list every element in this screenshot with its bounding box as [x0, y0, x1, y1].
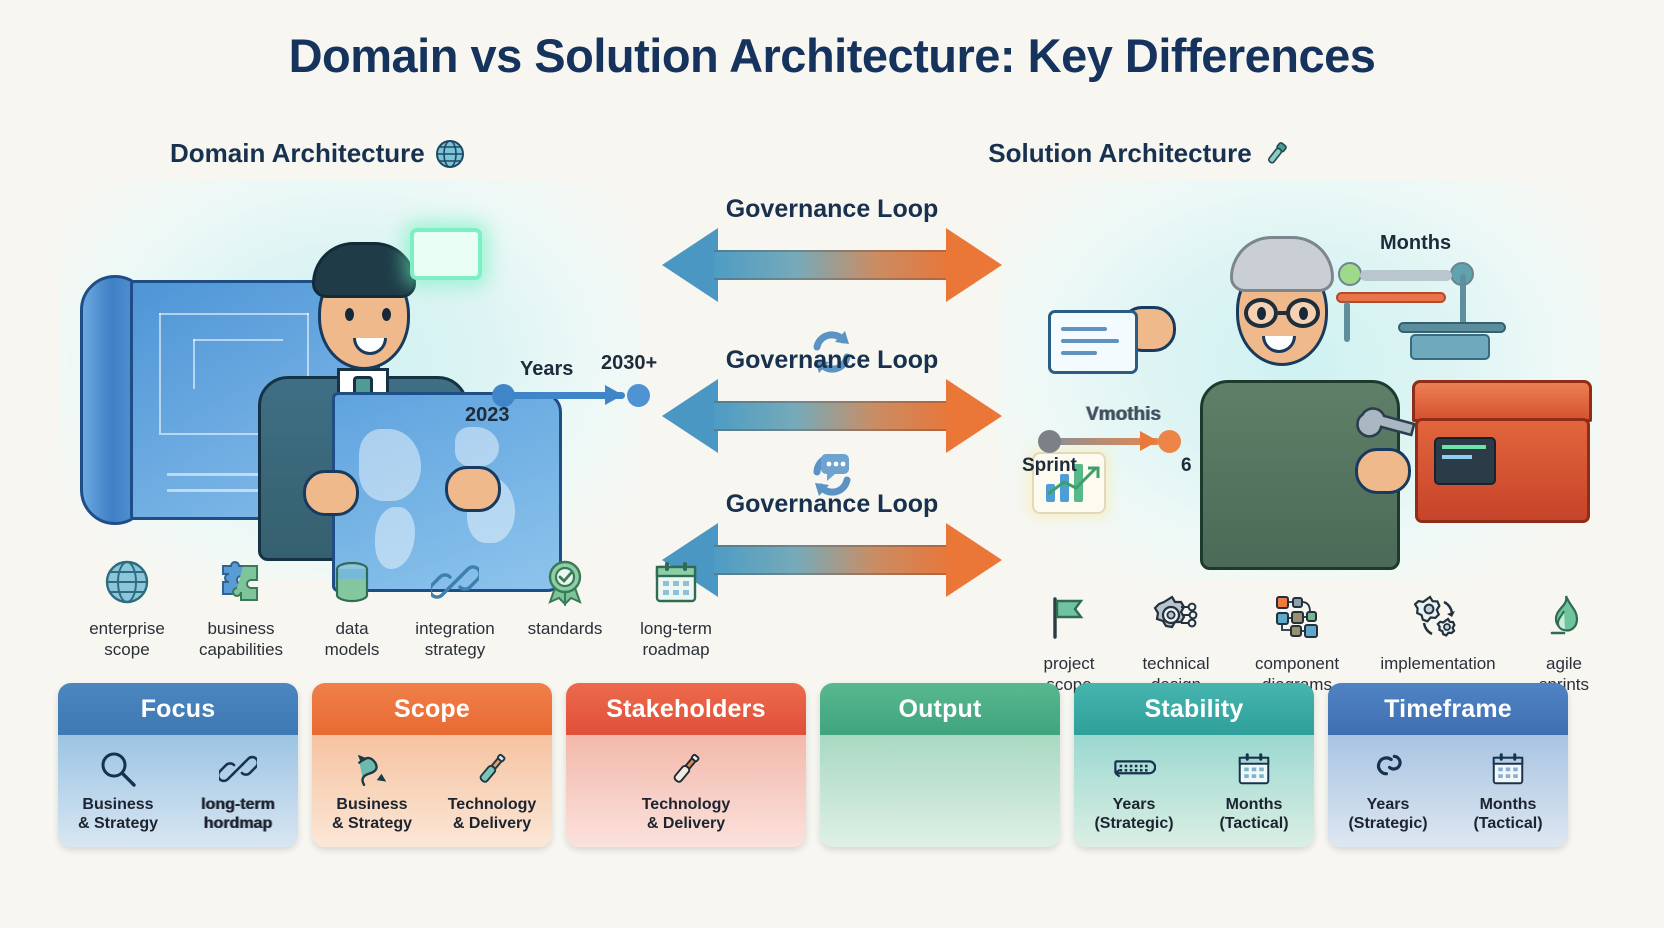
gear-network-icon	[1152, 593, 1200, 641]
comparison-card-stability[interactable]: Stability	[1074, 683, 1314, 847]
cycle-icon	[1369, 750, 1407, 788]
comparison-card-scope[interactable]: Scope Business & Strategy	[312, 683, 552, 847]
roadmap-icon	[1112, 750, 1156, 788]
card-item[interactable]: Technology & Delivery	[635, 747, 737, 833]
timeline-start-label: 2023	[465, 404, 510, 427]
card-item[interactable]: Years (Strategic)	[1337, 747, 1439, 833]
section-heading-domain-label: Domain Architecture	[170, 138, 425, 169]
card-item[interactable]: Months (Tactical)	[1203, 747, 1305, 833]
card-title: Timeframe	[1328, 683, 1568, 735]
solution-attribute-component-diagrams[interactable]: component diagrams	[1244, 590, 1350, 695]
domain-attribute-business-capabilities[interactable]: business capabilities	[186, 555, 296, 660]
page-title: Domain vs Solution Architecture: Key Dif…	[0, 28, 1664, 83]
attribute-label: integration strategy	[415, 619, 494, 660]
sprint-start-label: Sprint	[1022, 455, 1077, 477]
card-title: Scope	[312, 683, 552, 735]
timeline-end-label: 2030+	[601, 352, 657, 375]
governance-loop-1: Governance Loop	[662, 195, 1002, 306]
solution-attribute-row: project scope technical design	[1030, 590, 1602, 695]
governance-loop-2-label: Governance Loop	[662, 346, 1002, 375]
section-heading-solution: Solution Architecture	[988, 138, 1291, 169]
card-item[interactable]: Business & Strategy	[67, 747, 169, 833]
comparison-card-output[interactable]: Output	[820, 683, 1060, 847]
expand-arrows-icon	[353, 750, 391, 788]
wrench-icon	[1352, 392, 1422, 462]
domain-attribute-integration-strategy[interactable]: integration strategy	[408, 555, 502, 660]
screwdriver-icon	[1262, 139, 1292, 169]
card-title: Output	[820, 683, 1060, 735]
card-item-text: Months (Tactical)	[1473, 795, 1542, 833]
governance-loop-2: Governance Loop	[662, 346, 1002, 457]
spec-card-icon	[1048, 310, 1138, 374]
solution-attribute-technical-design[interactable]: technical design	[1130, 590, 1222, 695]
governance-loop-3-label: Governance Loop	[662, 490, 1002, 519]
magnifier-icon	[99, 750, 137, 788]
domain-attribute-standards[interactable]: standards	[522, 555, 608, 660]
sprint-end-label: 6	[1181, 455, 1192, 477]
card-item-text: Business & Strategy	[78, 795, 158, 833]
solution-attribute-project-scope[interactable]: project scope	[1030, 590, 1108, 695]
solution-attribute-implementation[interactable]: implementation	[1372, 590, 1504, 695]
gantt-months-label: Months	[1380, 232, 1451, 255]
card-item[interactable]: Months (Tactical)	[1457, 747, 1559, 833]
attribute-label: data models	[325, 619, 380, 660]
domain-attribute-row: enterprise scope business capabilities	[88, 555, 724, 660]
calendar-icon	[1236, 750, 1272, 788]
section-heading-domain: Domain Architecture	[170, 138, 465, 169]
card-item[interactable]: Business & Strategy	[321, 747, 423, 833]
domain-attribute-long-term-roadmap[interactable]: long-term roadmap	[628, 555, 724, 660]
card-item-text: Technology & Delivery	[642, 795, 731, 833]
badge-icon	[541, 558, 589, 606]
flame-icon	[1540, 593, 1588, 641]
component-diagram-icon	[1273, 593, 1321, 641]
comparison-card-stakeholders[interactable]: Stakeholders Technology & Delivery	[566, 683, 806, 847]
card-item-text: Months (Tactical)	[1219, 795, 1288, 833]
domain-attribute-data-models[interactable]: data models	[316, 555, 388, 660]
attribute-label: standards	[528, 619, 603, 640]
attribute-label: long-term roadmap	[640, 619, 712, 660]
database-icon	[328, 558, 376, 606]
link-icon	[219, 750, 257, 788]
card-title: Focus	[58, 683, 298, 735]
calendar-icon	[652, 558, 700, 606]
card-item-text: Years (Strategic)	[1094, 795, 1173, 833]
calendar-icon	[1490, 750, 1526, 788]
card-item-text: Business & Strategy	[332, 795, 412, 833]
card-body-empty	[820, 735, 1060, 847]
solution-attribute-agile-sprints[interactable]: agile sprints	[1526, 590, 1602, 695]
neon-screen-icon	[410, 228, 482, 280]
gears-icon	[1414, 593, 1462, 641]
screwdriver-icon	[473, 750, 511, 788]
comparison-card-focus[interactable]: Focus Business & Strategy	[58, 683, 298, 847]
globe-icon	[435, 139, 465, 169]
flag-icon	[1045, 593, 1093, 641]
screwdriver-icon	[667, 750, 705, 788]
governance-loop-1-label: Governance Loop	[662, 195, 1002, 224]
comparison-card-timeframe[interactable]: Timeframe Years (Strategic)	[1328, 683, 1568, 847]
card-title: Stability	[1074, 683, 1314, 735]
globe-icon	[103, 558, 151, 606]
attribute-label: business capabilities	[199, 619, 283, 660]
card-item-text: Technology & Delivery	[448, 795, 537, 833]
section-heading-solution-label: Solution Architecture	[988, 138, 1251, 169]
timeline-unit-label: Years	[520, 358, 573, 381]
link-icon	[431, 558, 479, 606]
toolbox-icon	[1415, 418, 1590, 523]
card-item[interactable]: long-term hordmap	[187, 747, 289, 833]
attribute-label: implementation	[1380, 654, 1495, 675]
card-item-text: Years (Strategic)	[1348, 795, 1427, 833]
solution-illustration: Months	[1000, 180, 1600, 580]
attribute-label: enterprise scope	[89, 619, 165, 660]
toolbox-lid	[1412, 380, 1592, 422]
domain-attribute-enterprise-scope[interactable]: enterprise scope	[88, 555, 166, 660]
sprint-unit-label: Vmothis	[1086, 404, 1161, 426]
infographic-canvas: Domain vs Solution Architecture: Key Dif…	[0, 0, 1664, 928]
comparison-cards: Focus Business & Strategy	[58, 683, 1568, 847]
card-item-text: long-term hordmap	[201, 795, 275, 833]
bidirectional-arrow-2	[662, 375, 1002, 457]
bidirectional-arrow-1	[662, 224, 1002, 306]
puzzle-icon	[217, 558, 265, 606]
card-item[interactable]: Technology & Delivery	[441, 747, 543, 833]
card-item[interactable]: Years (Strategic)	[1083, 747, 1185, 833]
card-title: Stakeholders	[566, 683, 806, 735]
